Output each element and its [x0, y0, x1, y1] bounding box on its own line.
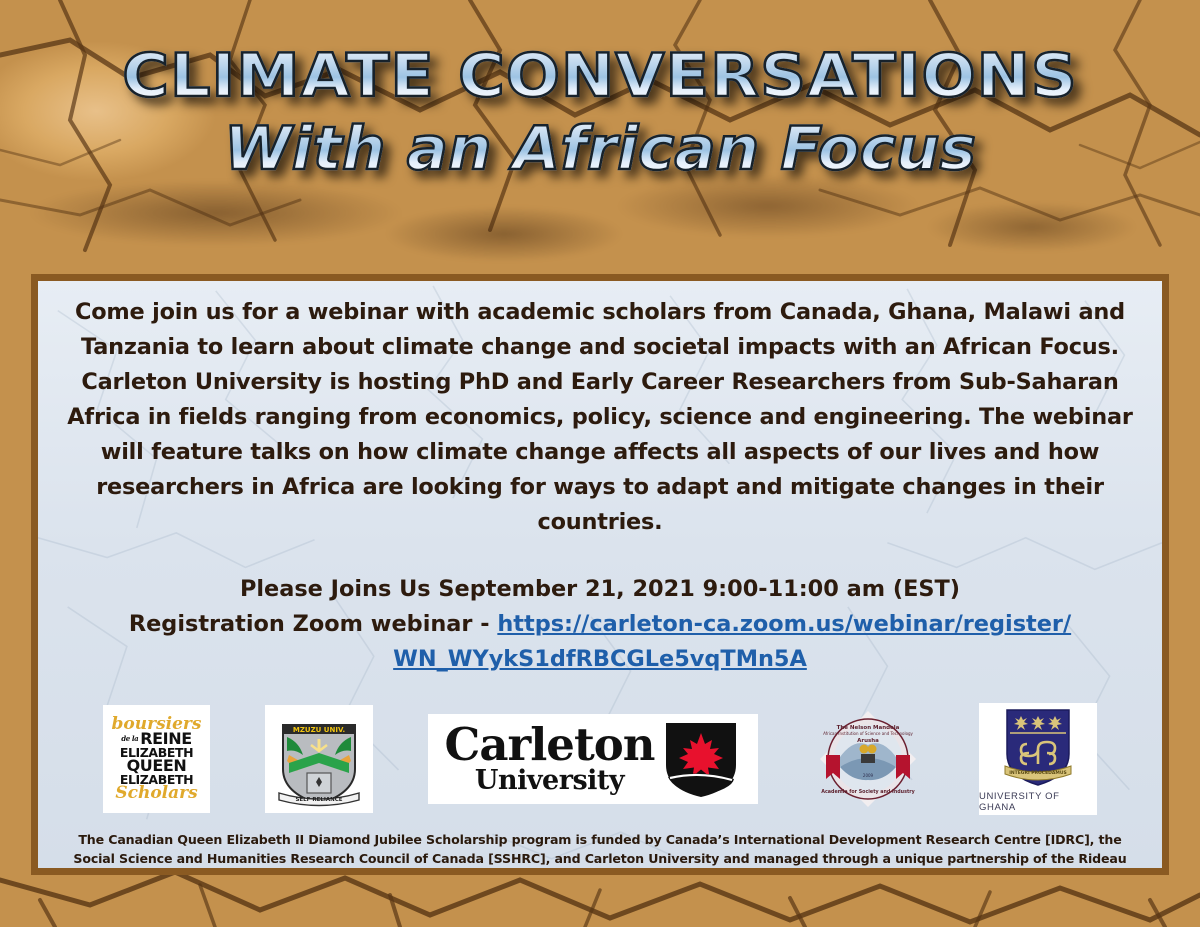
svg-text:MZUZU UNIV.: MZUZU UNIV.	[293, 726, 345, 734]
logo-carleton-university: Carleton University	[428, 714, 758, 804]
funding-footer: The Canadian Queen Elizabeth II Diamond …	[48, 831, 1152, 875]
carleton-shield-icon	[662, 719, 740, 799]
carleton-wordmark-line2: University	[475, 768, 624, 794]
logo-row: boursiers de la REINE ELIZABETH QUEEN EL…	[48, 703, 1152, 815]
svg-text:Academia for Society and Indus: Academia for Society and Industry	[822, 789, 916, 795]
svg-text:INTEGRI PROCEDAMUS: INTEGRI PROCEDAMUS	[1009, 770, 1067, 776]
poster-title-block: CLIMATE CONVERSATIONS With an African Fo…	[0, 46, 1200, 179]
svg-text:2009: 2009	[863, 773, 874, 778]
qes-de-la: de la	[121, 732, 138, 746]
qes-line3: QUEEN	[127, 759, 187, 773]
logo-university-of-ghana: INTEGRI PROCEDAMUS UNIVERSITY OF GHANA	[979, 703, 1097, 815]
registration-line: Registration Zoom webinar - https://carl…	[48, 607, 1152, 642]
registration-label: Registration Zoom webinar -	[129, 611, 497, 637]
registration-url-line2[interactable]: WN_WYykS1dfRBCGLe5vqTMn5A	[393, 646, 807, 672]
svg-text:Arusha: Arusha	[857, 738, 879, 744]
registration-url-line2-wrap: WN_WYykS1dfRBCGLe5vqTMn5A	[48, 642, 1152, 677]
svg-text:African Institution of Science: African Institution of Science and Techn…	[823, 731, 913, 736]
poster-root: CLIMATE CONVERSATIONS With an African Fo…	[0, 0, 1200, 927]
event-datetime: Please Joins Us September 21, 2021 9:00-…	[48, 572, 1152, 607]
content-panel: Come join us for a webinar with academic…	[31, 274, 1169, 875]
svg-text:SELF RELIANCE: SELF RELIANCE	[295, 797, 342, 803]
ghana-caption: UNIVERSITY OF GHANA	[979, 791, 1097, 813]
body-paragraph: Come join us for a webinar with academic…	[48, 295, 1152, 540]
poster-title: CLIMATE CONVERSATIONS	[0, 46, 1200, 106]
event-details: Please Joins Us September 21, 2021 9:00-…	[48, 572, 1152, 677]
qes-script-bottom: Scholars	[115, 786, 197, 801]
qes-line1: REINE	[140, 732, 192, 746]
poster-subtitle: With an African Focus	[0, 119, 1200, 179]
logo-mzuzu-university: MZUZU UNIV. SELF RELIANCE	[265, 705, 373, 813]
logo-queen-elizabeth-scholars: boursiers de la REINE ELIZABETH QUEEN EL…	[103, 705, 210, 813]
registration-url-line1[interactable]: https://carleton-ca.zoom.us/webinar/regi…	[497, 611, 1071, 637]
logo-nelson-mandela-african-institution: The Nelson Mandela African Institution o…	[812, 703, 924, 815]
carleton-wordmark-line1: Carleton	[445, 724, 655, 767]
